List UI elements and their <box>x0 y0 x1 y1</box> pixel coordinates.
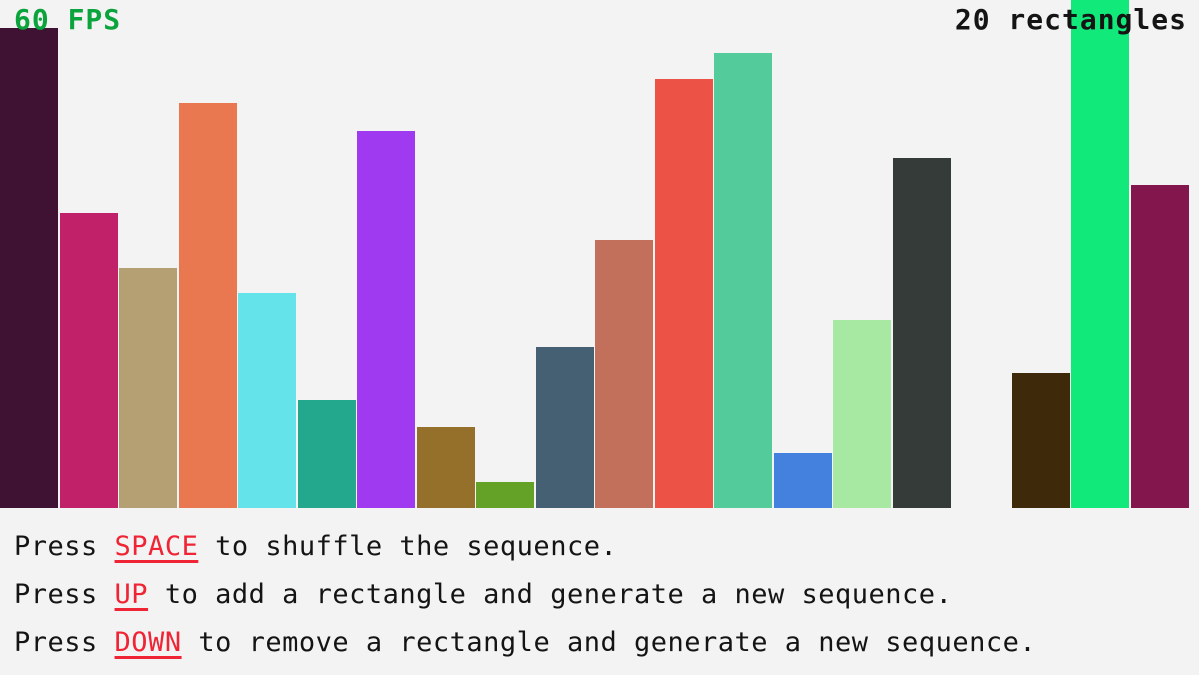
bar-chart-canvas[interactable] <box>0 0 1199 509</box>
instruction-prefix: Press <box>14 627 115 658</box>
bar-rectangle <box>417 427 475 508</box>
bar-rectangle <box>536 347 594 508</box>
bar-rectangle <box>714 53 772 508</box>
instruction-suffix: to shuffle the sequence. <box>198 531 617 562</box>
keyboard-key-down[interactable]: DOWN <box>115 627 182 658</box>
keyboard-key-space[interactable]: SPACE <box>115 531 199 562</box>
bar-rectangle <box>893 158 951 508</box>
bar-rectangle <box>0 28 58 508</box>
bar-rectangle <box>179 103 237 508</box>
bar-rectangle <box>60 213 118 508</box>
bar-rectangle <box>1012 373 1070 508</box>
instruction-suffix: to add a rectangle and generate a new se… <box>148 579 952 610</box>
instruction-line: Press UP to add a rectangle and generate… <box>14 571 1199 619</box>
rectangle-count-label: 20 rectangles <box>955 6 1187 34</box>
bar-rectangle <box>357 131 415 508</box>
bar-rectangle <box>476 482 534 508</box>
fps-counter: 60 FPS <box>14 6 121 34</box>
bar-rectangle <box>833 320 891 508</box>
bar-rectangle <box>238 293 296 508</box>
instruction-line: Press SPACE to shuffle the sequence. <box>14 523 1199 571</box>
bar-rectangle <box>774 453 832 508</box>
instructions-panel: Press SPACE to shuffle the sequence.Pres… <box>0 509 1199 675</box>
bar-rectangle <box>595 240 653 508</box>
instruction-prefix: Press <box>14 531 115 562</box>
instruction-prefix: Press <box>14 579 115 610</box>
keyboard-key-up[interactable]: UP <box>115 579 149 610</box>
instruction-suffix: to remove a rectangle and generate a new… <box>182 627 1037 658</box>
bar-rectangle <box>1131 185 1189 508</box>
bar-rectangle <box>298 400 356 508</box>
bar-rectangle <box>119 268 177 508</box>
app-root: 60 FPS 20 rectangles Press SPACE to shuf… <box>0 0 1199 675</box>
instruction-line: Press DOWN to remove a rectangle and gen… <box>14 619 1199 667</box>
bar-rectangle <box>655 79 713 508</box>
bar-rectangle <box>1071 0 1129 508</box>
